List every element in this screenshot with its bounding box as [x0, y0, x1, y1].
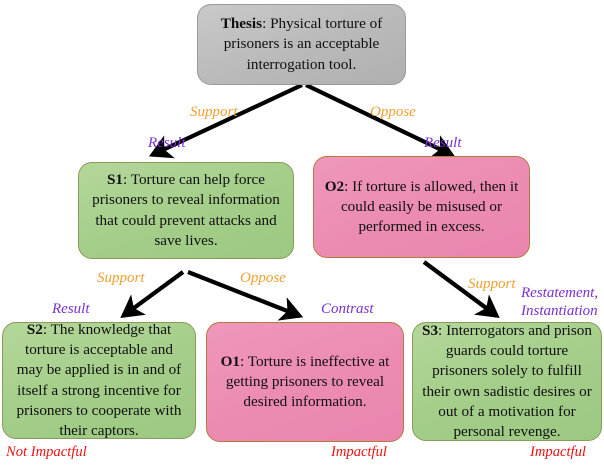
edge-label-result-thesis-s1: Result — [148, 135, 186, 152]
node-s1[interactable]: S1: Torture can help force prisoners to … — [78, 162, 294, 259]
edge-label-restatement-line2: Instantiation — [521, 303, 598, 320]
impact-label-o1: Impactful — [331, 444, 387, 461]
node-s3-body: : Interrogators and prison guards could … — [422, 322, 592, 440]
node-s1-text: S1: Torture can help force prisoners to … — [87, 170, 285, 251]
node-o2-label: O2 — [325, 178, 344, 195]
edge-label-oppose-s1-o1: Oppose — [240, 270, 286, 287]
node-s2-label: S2 — [27, 321, 43, 338]
edge-label-support-s1-s2: Support — [97, 270, 145, 287]
impact-label-s2: Not Impactful — [6, 444, 87, 461]
edge-label-result-thesis-o2: Result — [424, 135, 462, 152]
node-o1[interactable]: O1: Torture is ineffective at getting pr… — [206, 322, 404, 442]
node-o2[interactable]: O2: If torture is allowed, then it could… — [313, 156, 530, 258]
edge-label-oppose-thesis-o2: Oppose — [370, 104, 416, 121]
edge-label-support-o2-s3: Support — [468, 276, 516, 293]
node-thesis-label: Thesis — [221, 15, 262, 32]
node-o2-body: : If torture is allowed, then it could e… — [341, 178, 518, 235]
node-s3-text: S3: Interrogators and prison guards coul… — [421, 321, 593, 442]
impact-label-s3: Impactful — [530, 444, 586, 461]
edge-label-contrast-s1-o1: Contrast — [321, 301, 374, 318]
node-s3[interactable]: S3: Interrogators and prison guards coul… — [412, 322, 602, 441]
node-o1-text: O1: Torture is ineffective at getting pr… — [215, 352, 395, 413]
node-o2-text: O2: If torture is allowed, then it could… — [322, 177, 521, 238]
node-s2-body: : The knowledge that torture is acceptab… — [17, 321, 182, 439]
edge-label-restatement-line1: Restatement, — [521, 285, 598, 302]
node-thesis-text: Thesis: Physical torture of prisoners is… — [206, 14, 397, 75]
node-s1-label: S1 — [107, 171, 123, 188]
edge-label-result-s1-s2: Result — [52, 301, 90, 318]
edge-label-support-thesis-s1: Support — [190, 104, 238, 121]
node-thesis[interactable]: Thesis: Physical torture of prisoners is… — [197, 4, 406, 85]
node-o1-body: : Torture is ineffective at getting pris… — [226, 353, 389, 410]
node-s2-text: S2: The knowledge that torture is accept… — [11, 320, 187, 441]
node-s2[interactable]: S2: The knowledge that torture is accept… — [2, 322, 196, 439]
argument-structure-diagram: Thesis: Physical torture of prisoners is… — [0, 0, 604, 470]
node-o1-label: O1 — [221, 353, 240, 370]
node-s3-label: S3 — [422, 322, 438, 339]
